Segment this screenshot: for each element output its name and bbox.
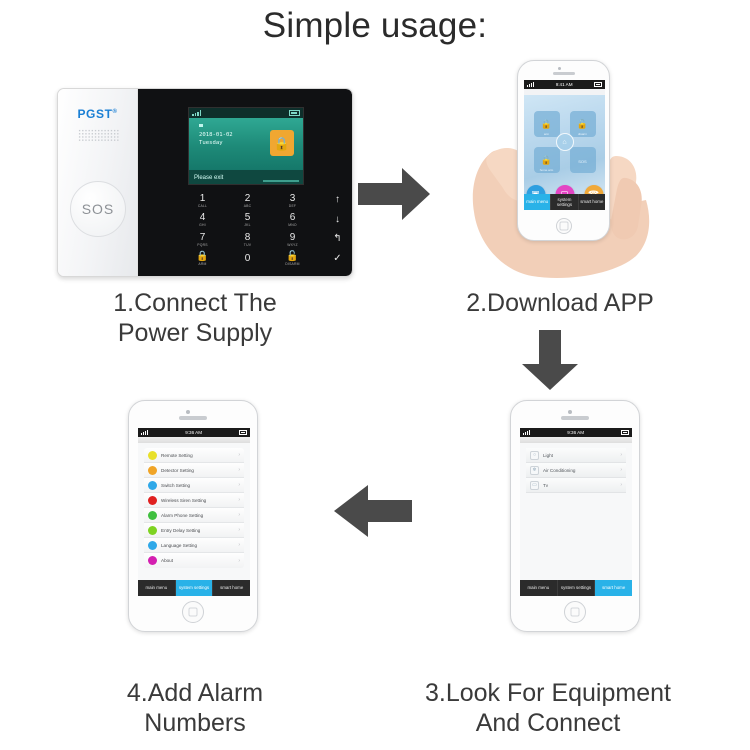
tabbar: main menu system settings smart home bbox=[520, 580, 632, 596]
lcd-date-text: 2018-01-02 bbox=[199, 131, 233, 139]
settings-list-item[interactable]: Entry Delay Setting› bbox=[144, 523, 244, 538]
keypad-key-sub: MNO bbox=[288, 224, 297, 227]
panel-right-face: 2018-01-02 Tuesday 🔒 Please exit 1CALL2A… bbox=[138, 89, 352, 276]
keypad-key-glyph: ↑ bbox=[335, 195, 340, 205]
battery-icon bbox=[594, 82, 602, 87]
chevron-right-icon: › bbox=[238, 542, 240, 548]
phone-smart-home-screen: 9:36 AM ○Light›❄Air Conditioning›▭Tv› ma… bbox=[520, 428, 632, 596]
keypad-check-icon[interactable]: ✓ bbox=[333, 254, 341, 265]
settings-item-icon bbox=[148, 511, 157, 520]
keypad-key-number: 2 bbox=[244, 194, 252, 204]
panel-left-face: PGST® SOS bbox=[58, 89, 138, 276]
settings-item-label: Alarm Phone Setting bbox=[161, 513, 238, 518]
keypad-key-8[interactable]: 8TUV bbox=[244, 233, 251, 247]
statusbar: 9:41 AM bbox=[524, 80, 605, 89]
settings-item-label: Remote Setting bbox=[161, 453, 238, 458]
arrow-right-icon bbox=[358, 168, 430, 220]
statusbar: 9:36 AM bbox=[138, 428, 250, 437]
settings-list-item[interactable]: Remote Setting› bbox=[144, 448, 244, 463]
keypad-key-glyph: 🔒 bbox=[196, 252, 208, 262]
keypad-key-number: 8 bbox=[244, 233, 251, 243]
alarm-panel-device: PGST® SOS 2018-01-02 Tuesday 🔒 Please ex… bbox=[57, 88, 353, 277]
phone-speaker-icon bbox=[561, 416, 589, 420]
smart-home-item-label: Tv bbox=[543, 483, 620, 488]
lcd-statusbar bbox=[189, 108, 303, 118]
keypad-key-sub: CALL bbox=[198, 205, 207, 208]
phone-camera-icon bbox=[558, 67, 561, 70]
settings-item-label: Language Setting bbox=[161, 543, 238, 548]
signal-icon bbox=[523, 430, 530, 435]
tab-main-menu[interactable]: main menu bbox=[138, 580, 176, 596]
tab-main-menu[interactable]: main menu bbox=[524, 194, 551, 210]
step1-caption: 1.Connect The Power Supply bbox=[30, 288, 360, 348]
home-arm-button-label: home arm bbox=[540, 168, 554, 172]
statusbar-time: 9:36 AM bbox=[567, 430, 584, 435]
keypad-arrow-up-icon[interactable]: ↑ bbox=[335, 195, 340, 206]
tab-smart-home[interactable]: smart home bbox=[213, 580, 250, 596]
keypad-key-sub: JKL bbox=[244, 224, 250, 227]
keypad-key-glyph: ↰ bbox=[333, 234, 341, 244]
signal-icon bbox=[192, 110, 201, 116]
lcd-indicator-dot bbox=[199, 124, 203, 127]
settings-item-icon bbox=[148, 496, 157, 505]
lcd-status-label: Please exit bbox=[194, 175, 223, 181]
lcd-status-text: Please exit bbox=[189, 170, 303, 185]
smart-home-list-item[interactable]: ○Light› bbox=[526, 448, 626, 463]
settings-item-icon bbox=[148, 541, 157, 550]
keypad-key-number: 5 bbox=[244, 213, 250, 223]
page-title: Simple usage: bbox=[0, 6, 750, 46]
lcd-progress-bar bbox=[263, 180, 299, 182]
phone-camera-icon bbox=[568, 410, 572, 414]
tab-main-menu[interactable]: main menu bbox=[520, 580, 558, 596]
keypad-key-5[interactable]: 5JKL bbox=[244, 213, 250, 227]
keypad-key-number: 0 bbox=[245, 254, 251, 264]
phone-smart-home: 9:36 AM ○Light›❄Air Conditioning›▭Tv› ma… bbox=[510, 400, 640, 632]
settings-item-icon bbox=[148, 556, 157, 565]
keypad-key-1[interactable]: 1CALL bbox=[198, 194, 207, 208]
keypad-key-sub: WXYZ bbox=[287, 244, 298, 247]
keypad-key-4[interactable]: 4GHI bbox=[199, 213, 206, 227]
keypad-key-number: 4 bbox=[199, 213, 206, 223]
signal-icon bbox=[141, 430, 148, 435]
phone-speaker-icon bbox=[179, 416, 207, 420]
chevron-right-icon: › bbox=[238, 558, 240, 564]
smart-home-list-item[interactable]: ❄Air Conditioning› bbox=[526, 463, 626, 478]
keypad-key-sub: GHI bbox=[199, 224, 206, 227]
lcd-lock-badge-icon: 🔒 bbox=[270, 130, 294, 156]
sos-button[interactable]: SOS bbox=[70, 181, 126, 237]
keypad-unlock-icon[interactable]: 🔓DISARM bbox=[285, 252, 299, 266]
tabbar: main menu system settings smart home bbox=[138, 580, 250, 596]
settings-item-label: About bbox=[161, 558, 238, 563]
settings-list-item[interactable]: Alarm Phone Setting› bbox=[144, 508, 244, 523]
phone-home-button[interactable] bbox=[182, 601, 204, 623]
smart-home-item-label: Light bbox=[543, 453, 620, 458]
phone-settings-screen: 9:36 AM Remote Setting›Detector Setting›… bbox=[138, 428, 250, 596]
chevron-right-icon: › bbox=[238, 467, 240, 473]
settings-list-item[interactable]: Language Setting› bbox=[144, 538, 244, 553]
keypad-key-sub: DISARM bbox=[285, 263, 299, 266]
chevron-right-icon: › bbox=[620, 467, 622, 473]
settings-list-item[interactable]: Wireless Siren Setting› bbox=[144, 493, 244, 508]
panel-lcd-screen: 2018-01-02 Tuesday 🔒 Please exit bbox=[188, 107, 304, 185]
keypad-key-number: 1 bbox=[198, 194, 207, 204]
home-arm-button[interactable]: 🔒home arm bbox=[534, 147, 560, 173]
smart-home-item-label: Air Conditioning bbox=[543, 468, 620, 473]
settings-item-icon bbox=[148, 526, 157, 535]
keypad-key-sub: ARM bbox=[196, 263, 208, 266]
statusbar-time: 9:41 AM bbox=[556, 82, 573, 87]
chevron-right-icon: › bbox=[238, 482, 240, 488]
settings-item-label: Switch Setting bbox=[161, 483, 238, 488]
smart-home-list-item[interactable]: ▭Tv› bbox=[526, 478, 626, 493]
settings-list-item[interactable]: About› bbox=[144, 553, 244, 568]
arm-button-label: arm bbox=[544, 132, 549, 136]
settings-item-icon bbox=[148, 466, 157, 475]
arm-control-pad: 🔒arm 🔓disarm 🔒home arm SOS ⌂ bbox=[534, 111, 596, 173]
keypad-key-9[interactable]: 9WXYZ bbox=[287, 233, 298, 247]
battery-icon bbox=[239, 430, 247, 435]
keypad-key-sub: PQRS bbox=[197, 244, 207, 247]
keypad-back-icon[interactable]: ↰ bbox=[333, 234, 341, 245]
settings-item-label: Detector Setting bbox=[161, 468, 238, 473]
statusbar: 9:36 AM bbox=[520, 428, 632, 437]
panel-keypad[interactable]: 1CALL2ABC3DEF↑4GHI5JKL6MNO↓7PQRS8TUV9WXY… bbox=[180, 191, 353, 269]
arm-button[interactable]: 🔒arm bbox=[534, 111, 560, 137]
step3-caption: 3.Look For Equipment And Connect bbox=[378, 678, 718, 738]
keypad-key-number: 7 bbox=[197, 233, 207, 243]
keypad-key-number: 9 bbox=[287, 233, 298, 243]
keypad-key-sub: DEF bbox=[289, 205, 296, 208]
battery-icon bbox=[289, 110, 300, 116]
settings-item-label: Wireless Siren Setting bbox=[161, 498, 238, 503]
keypad-key-number: 3 bbox=[289, 194, 296, 204]
pgst-logo-text: PGST bbox=[77, 107, 112, 121]
pgst-logo-mark: ® bbox=[113, 109, 118, 115]
step4-caption: 4.Add Alarm Numbers bbox=[30, 678, 360, 738]
disarm-button[interactable]: 🔓disarm bbox=[570, 111, 596, 137]
phone-camera-icon bbox=[186, 410, 190, 414]
chevron-right-icon: › bbox=[620, 452, 622, 458]
bulb-icon: ○ bbox=[530, 451, 539, 460]
home-icon[interactable]: ⌂ bbox=[556, 133, 574, 151]
lcd-body: 2018-01-02 Tuesday 🔒 bbox=[189, 118, 303, 170]
pgst-logo: PGST® bbox=[58, 107, 137, 121]
step2-caption: 2.Download APP bbox=[395, 288, 725, 318]
lcd-datetime: 2018-01-02 Tuesday bbox=[199, 131, 233, 147]
keypad-key-glyph: ✓ bbox=[333, 254, 341, 264]
arrow-down-icon bbox=[522, 330, 578, 390]
smart-home-device-list[interactable]: ○Light›❄Air Conditioning›▭Tv› bbox=[520, 443, 632, 493]
tv-icon: ▭ bbox=[530, 481, 539, 490]
app-home-content: 🔒arm 🔓disarm 🔒home arm SOS ⌂ ▣ Video ▢ R… bbox=[524, 95, 605, 194]
battery-icon bbox=[621, 430, 629, 435]
keypad-key-2[interactable]: 2ABC bbox=[244, 194, 252, 208]
keypad-arrow-down-icon[interactable]: ↓ bbox=[335, 215, 340, 226]
chevron-right-icon: › bbox=[620, 482, 622, 488]
keypad-key-6[interactable]: 6MNO bbox=[288, 213, 297, 227]
settings-list-item[interactable]: Detector Setting› bbox=[144, 463, 244, 478]
sos-button-label: SOS bbox=[578, 159, 586, 164]
tab-smart-home[interactable]: smart home bbox=[579, 194, 605, 210]
keypad-key-number: 6 bbox=[288, 213, 297, 223]
phone-app-home: 9:41 AM 🔒arm 🔓disarm 🔒home arm SOS ⌂ ▣ V… bbox=[517, 60, 610, 241]
disarm-button-label: disarm bbox=[578, 132, 587, 136]
signal-icon bbox=[527, 82, 534, 87]
chevron-right-icon: › bbox=[238, 512, 240, 518]
keypad-key-3[interactable]: 3DEF bbox=[289, 194, 296, 208]
keypad-key-sub: TUV bbox=[244, 244, 251, 247]
settings-item-label: Entry Delay Setting bbox=[161, 528, 238, 533]
sos-button[interactable]: SOS bbox=[570, 147, 596, 173]
phone-app-screen: 9:41 AM 🔒arm 🔓disarm 🔒home arm SOS ⌂ ▣ V… bbox=[524, 80, 605, 210]
statusbar-time: 9:36 AM bbox=[185, 430, 202, 435]
speaker-grille-icon bbox=[78, 129, 120, 141]
lcd-weekday-text: Tuesday bbox=[199, 139, 233, 147]
tab-system-settings[interactable]: system settings bbox=[551, 194, 578, 210]
tab-system-settings[interactable]: system settings bbox=[176, 580, 214, 596]
keypad-key-glyph: 🔓 bbox=[285, 252, 299, 262]
phone-system-settings: 9:36 AM Remote Setting›Detector Setting›… bbox=[128, 400, 258, 632]
phone-speaker-icon bbox=[553, 72, 575, 75]
keypad-key-glyph: ↓ bbox=[335, 215, 340, 225]
chevron-right-icon: › bbox=[238, 527, 240, 533]
chevron-right-icon: › bbox=[238, 497, 240, 503]
tabbar: main menu system settings smart home bbox=[524, 194, 605, 210]
phone-home-button[interactable] bbox=[556, 218, 572, 234]
tab-smart-home[interactable]: smart home bbox=[595, 580, 632, 596]
phone-home-button[interactable] bbox=[564, 601, 586, 623]
keypad-key-sub: ABC bbox=[244, 205, 252, 208]
system-settings-list[interactable]: Remote Setting›Detector Setting›Switch S… bbox=[138, 443, 250, 568]
settings-item-icon bbox=[148, 451, 157, 460]
arrow-left-icon bbox=[334, 485, 412, 537]
settings-list-item[interactable]: Switch Setting› bbox=[144, 478, 244, 493]
keypad-lock-icon[interactable]: 🔒ARM bbox=[196, 252, 208, 266]
chevron-right-icon: › bbox=[238, 452, 240, 458]
tab-system-settings[interactable]: system settings bbox=[558, 580, 596, 596]
keypad-key-7[interactable]: 7PQRS bbox=[197, 233, 207, 247]
settings-item-icon bbox=[148, 481, 157, 490]
keypad-key-0[interactable]: 0 bbox=[245, 254, 251, 265]
snowflake-icon: ❄ bbox=[530, 466, 539, 475]
